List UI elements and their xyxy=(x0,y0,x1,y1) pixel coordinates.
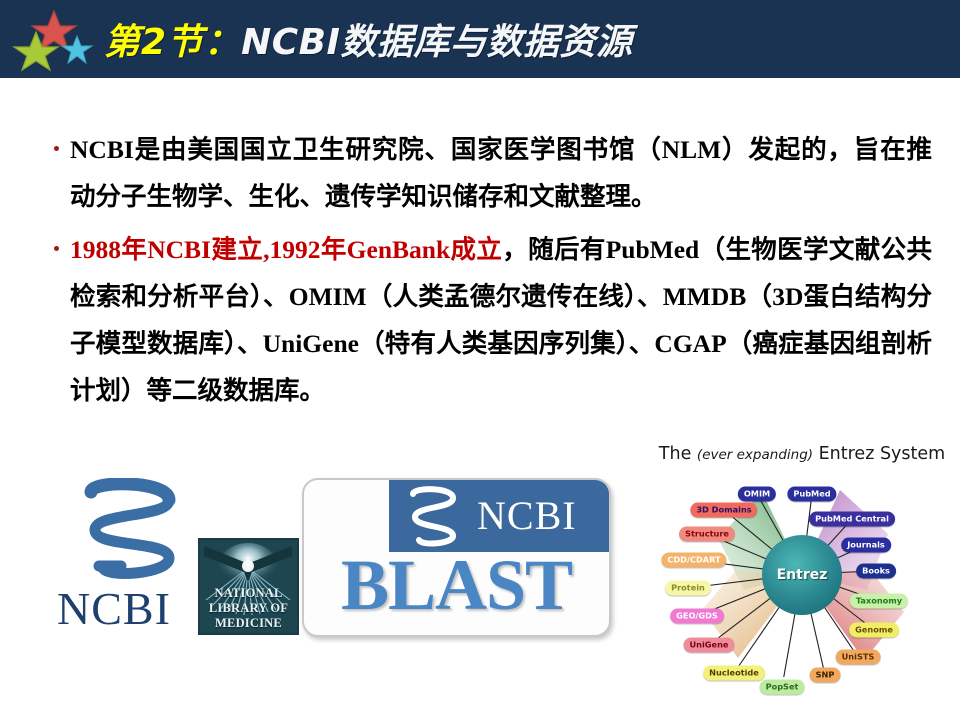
entrez-node: PubMed Central xyxy=(809,512,895,527)
entrez-hub-label: Entrez xyxy=(777,567,828,583)
bullet-item: 1988年NCBI建立,1992年GenBank成立，随后有PubMed（生物医… xyxy=(52,226,932,414)
entrez-hub: Entrez xyxy=(762,535,842,615)
entrez-caption-post: Entrez System xyxy=(813,444,945,464)
star-cyan-icon xyxy=(62,36,92,63)
ncbi-helix-icon xyxy=(73,478,183,588)
blast-logo: NCBI BLAST xyxy=(302,478,611,637)
entrez-node: Taxonomy xyxy=(850,594,908,609)
nlm-logo: NATIONAL LIBRARY OF MEDICINE xyxy=(198,538,295,631)
entrez-node: UniGene xyxy=(684,638,735,653)
entrez-node: PubMed xyxy=(787,487,836,502)
entrez-node: GEO/GDS xyxy=(670,609,724,624)
entrez-caption: The (ever expanding) Entrez System xyxy=(652,444,952,464)
nlm-line: MEDICINE xyxy=(200,616,297,631)
entrez-node: Protein xyxy=(665,581,711,596)
nlm-line: NATIONAL xyxy=(200,586,297,601)
entrez-node: Genome xyxy=(849,623,899,638)
entrez-node: SNP xyxy=(810,668,841,683)
page-title: 第2节： NCBI数据库与数据资源 xyxy=(104,6,632,72)
slide-header-band: 第2节： NCBI数据库与数据资源 xyxy=(0,0,960,78)
entrez-wheel: Entrez OMIMPubMedPubMed CentralJournalsB… xyxy=(652,472,952,677)
star-decoration xyxy=(8,6,98,72)
entrez-node: Nucleotide xyxy=(703,666,765,681)
entrez-node: Structure xyxy=(679,527,735,542)
bullet-run-highlight: 1988年NCBI建立,1992年GenBank成立 xyxy=(70,235,502,264)
blast-helix-icon xyxy=(401,484,463,548)
title-main: NCBI数据库与数据资源 xyxy=(241,13,632,65)
nlm-line: LIBRARY OF xyxy=(200,601,297,616)
blast-banner: NCBI xyxy=(389,480,609,552)
slide-body: NCBI是由美国国立卫生研究院、国家医学图书馆（NLM）发起的，旨在推动分子生物… xyxy=(52,126,932,420)
bullet-item: NCBI是由美国国立卫生研究院、国家医学图书馆（NLM）发起的，旨在推动分子生物… xyxy=(52,126,932,220)
nlm-logo-box: NATIONAL LIBRARY OF MEDICINE xyxy=(198,538,299,635)
logo-row: NCBI xyxy=(0,430,960,680)
ncbi-logo-group: NCBI xyxy=(55,478,305,638)
entrez-node: Journals xyxy=(841,538,891,553)
bullet-marker-icon xyxy=(54,246,59,251)
entrez-node: UniSTS xyxy=(836,650,881,665)
title-prefix: 第2节： xyxy=(104,13,241,65)
entrez-caption-italic: (ever expanding) xyxy=(697,447,813,463)
bullet-marker-icon xyxy=(54,146,59,151)
entrez-caption-pre: The xyxy=(659,444,697,464)
stars-svg xyxy=(8,6,98,72)
ncbi-wordmark: NCBI xyxy=(57,582,171,635)
entrez-node: 3D Domains xyxy=(690,503,757,518)
entrez-node: OMIM xyxy=(738,487,776,502)
entrez-diagram: The (ever expanding) Entrez System xyxy=(652,438,952,680)
entrez-node: Books xyxy=(856,564,896,579)
entrez-node: CDD/CDART xyxy=(661,553,726,568)
blast-ncbi-text: NCBI xyxy=(477,492,577,539)
bullet-run: NCBI是由美国国立卫生研究院、国家医学图书馆（NLM）发起的，旨在推动分子生物… xyxy=(70,135,932,211)
blast-wordmark: BLAST xyxy=(304,544,609,627)
entrez-node: PopSet xyxy=(760,680,805,695)
